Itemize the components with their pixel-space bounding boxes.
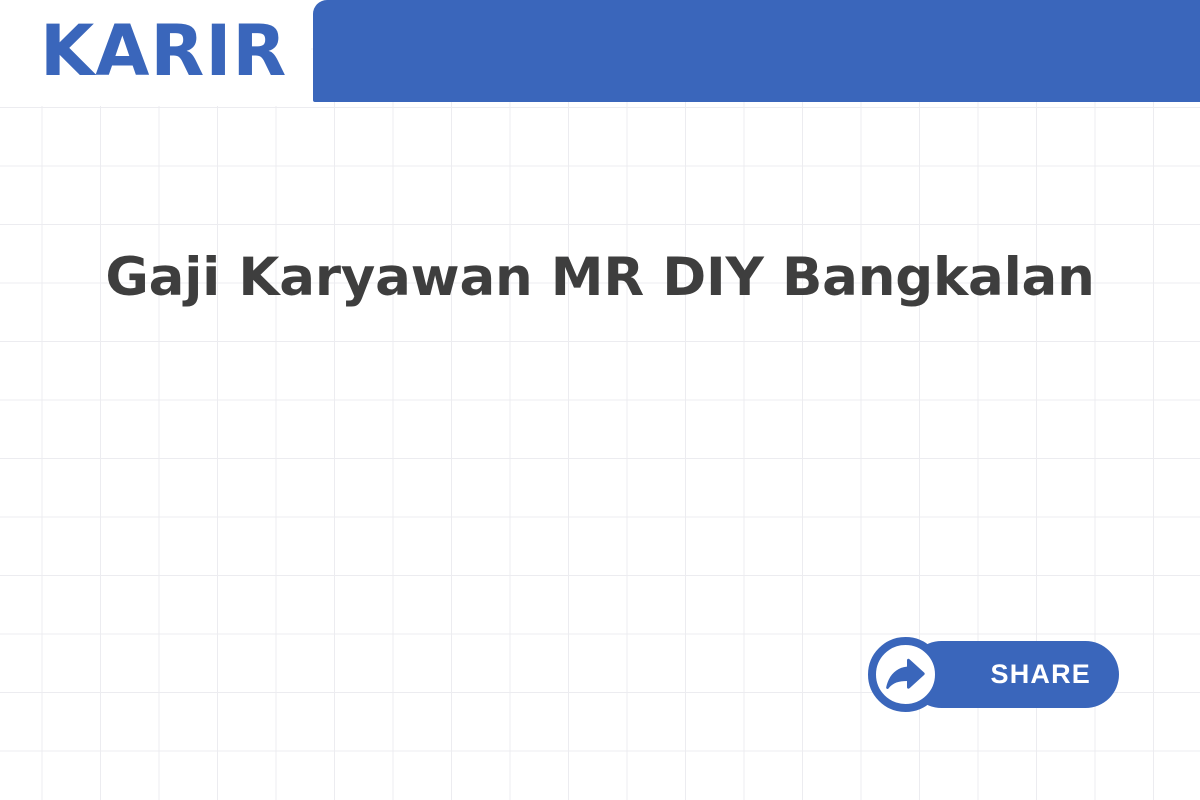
brand-card: KARIR — [0, 0, 311, 106]
share-button-label: SHARE — [990, 661, 1091, 688]
share-button[interactable]: SHARE — [868, 637, 1119, 711]
brand-wordmark: KARIR — [40, 16, 287, 86]
header-brand-bar — [313, 0, 1200, 102]
headline-block: Gaji Karyawan MR DIY Bangkalan — [0, 240, 1200, 315]
page-root: KARIR Gaji Karyawan MR DIY Bangkalan SHA… — [0, 0, 1200, 800]
share-arrow-icon — [886, 657, 926, 693]
share-icon-circle[interactable] — [868, 637, 943, 712]
page-title: Gaji Karyawan MR DIY Bangkalan — [0, 240, 1200, 315]
